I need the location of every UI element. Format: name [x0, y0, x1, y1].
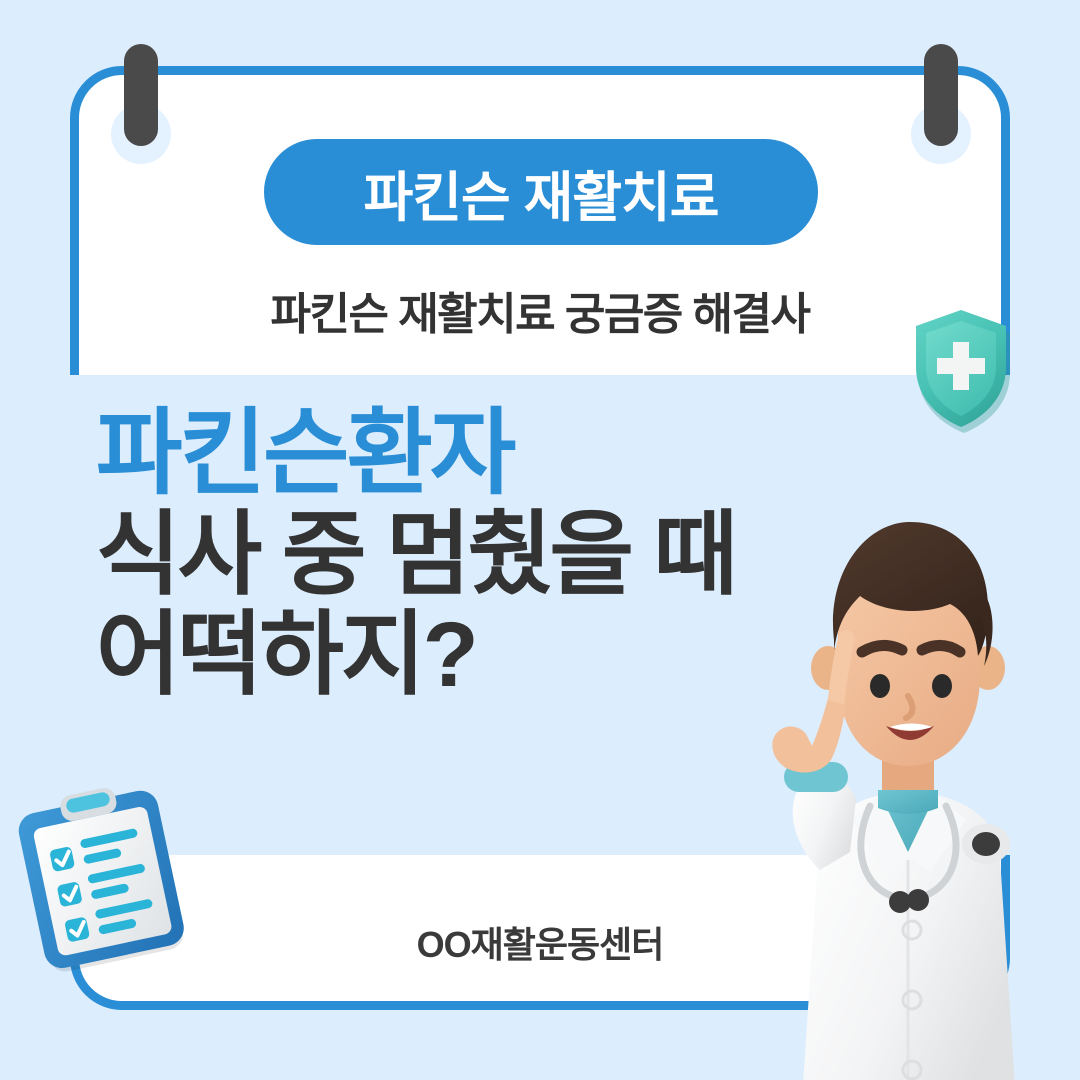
binder-clip-left-icon — [124, 44, 158, 146]
headline-line-1: 파킨슨환자 — [96, 405, 896, 501]
poster-canvas: 파킨슨 재활치료 파킨슨 재활치료 궁금증 해결사 파킨슨환자 식사 중 멈췄을… — [0, 0, 1080, 1080]
category-badge: 파킨슨 재활치료 — [264, 139, 818, 245]
doctor-pointing-up-character — [700, 500, 1080, 1080]
binder-clip-right-icon — [924, 44, 958, 146]
medical-shield-icon — [906, 306, 1016, 434]
category-badge-label: 파킨슨 재활치료 — [364, 153, 719, 232]
checklist-clipboard-icon — [8, 778, 198, 978]
clip-bar — [924, 44, 958, 146]
clip-bar — [124, 44, 158, 146]
